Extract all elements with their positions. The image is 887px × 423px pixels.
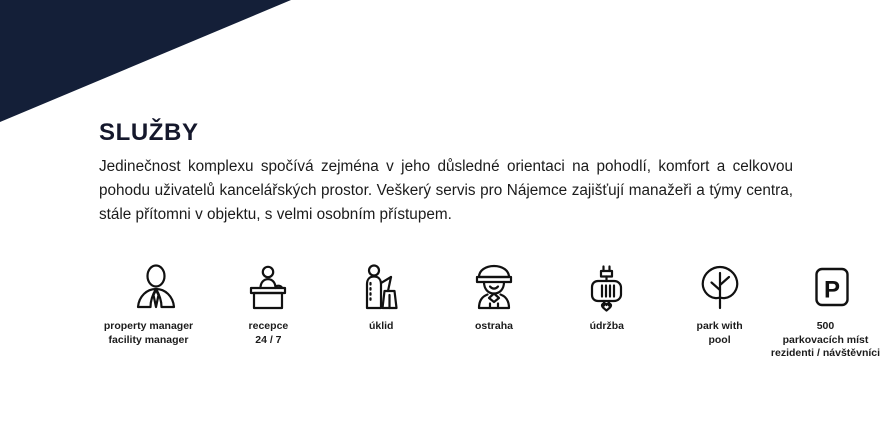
service-label: property manager facility manager [79,320,219,347]
navy-corner-wedge [0,0,300,130]
hand-wrench-icon [590,262,624,312]
service-label: park with pool [697,320,743,347]
service-item-cleaning: úklid [325,262,438,334]
person-tie-icon [134,262,178,312]
service-label: recepce 24 / 7 [249,320,289,347]
security-guard-icon [471,262,517,312]
service-item-reception: recepce 24 / 7 [212,262,325,347]
service-item-security: ostraha [438,262,551,334]
tree-icon [698,262,742,312]
service-item-property-manager: property manager facility manager [99,262,212,347]
services-list: property manager facility manager recepc… [99,262,887,361]
svg-text:P: P [824,277,840,304]
service-label: ostraha [475,320,513,334]
parking-sign-icon: P [811,262,853,312]
services-page: SLUŽBY Jedinečnost komplexu spočívá zejm… [0,0,887,423]
reception-desk-icon [244,262,292,312]
service-label: úklid [369,320,394,334]
intro-paragraph-block: Jedinečnost komplexu spočívá zejména v j… [99,155,793,227]
service-item-parking: P 500 parkovacích míst rezidenti / návšt… [776,262,887,361]
cleaner-broom-icon [361,262,401,312]
service-label: 500 parkovacích míst rezidenti / návštěv… [755,320,887,361]
service-item-maintenance: údržba [550,262,663,334]
intro-paragraph: Jedinečnost komplexu spočívá zejména v j… [99,155,793,227]
page-title: SLUŽBY [99,121,199,145]
service-label: údržba [590,320,624,334]
